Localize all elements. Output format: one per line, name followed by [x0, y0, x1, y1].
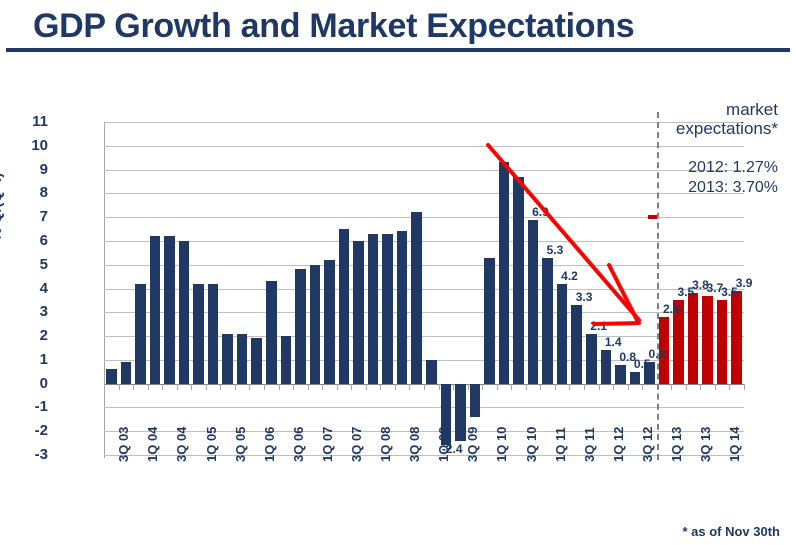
- bar-4Q-08: [411, 212, 421, 383]
- data-label-1Q-13: 2.8: [663, 303, 680, 315]
- x-tick-label-1Q-07: 1Q 07: [321, 427, 334, 462]
- bar-3Q-04: [164, 236, 174, 383]
- x-tick-mark: [715, 384, 716, 390]
- bar-1Q-11: [542, 258, 552, 384]
- bar-2Q-06: [266, 281, 276, 383]
- y-tick-label-3: 3: [8, 304, 48, 319]
- y-tick-label-10: 10: [8, 138, 48, 153]
- x-tick-mark: [584, 384, 585, 390]
- bar-2Q-08: [382, 234, 392, 384]
- legend-value-2013: 2013: 3.70%: [618, 178, 778, 198]
- bar-3Q-12: [630, 372, 640, 384]
- bar-4Q-11: [586, 334, 596, 384]
- x-tick-mark: [468, 384, 469, 390]
- y-tick-label-11: 11: [8, 114, 48, 129]
- x-tick-mark: [729, 384, 730, 390]
- x-tick-label-1Q-06: 1Q 06: [263, 427, 276, 462]
- y-tick-label-8: 8: [8, 185, 48, 200]
- bar-4Q-09: [470, 384, 480, 417]
- bar-4Q-13: [702, 296, 712, 384]
- x-tick-mark: [569, 384, 570, 390]
- bar-2Q-04: [150, 236, 160, 383]
- x-tick-mark: [235, 384, 236, 390]
- x-tick-label-1Q-04: 1Q 04: [146, 427, 159, 462]
- bar-3Q-08: [397, 231, 407, 383]
- bar-4Q-03: [121, 362, 131, 383]
- data-label-4Q-10: 6.9: [532, 206, 549, 218]
- x-tick-mark: [555, 384, 556, 390]
- x-tick-mark: [279, 384, 280, 390]
- bar-1Q-07: [310, 265, 320, 384]
- bar-forecast-extra: [731, 291, 741, 384]
- x-tick-label-1Q-12: 1Q 12: [612, 427, 625, 462]
- bar-4Q-04: [179, 241, 189, 384]
- bar-1Q-04: [135, 284, 145, 384]
- x-tick-mark: [351, 384, 352, 390]
- x-tick-mark: [395, 384, 396, 390]
- x-tick-label-3Q-06: 3Q 06: [292, 427, 305, 462]
- x-tick-mark: [264, 384, 265, 390]
- x-tick-mark: [206, 384, 207, 390]
- x-tick-label-1Q-08: 1Q 08: [379, 427, 392, 462]
- x-tick-mark: [337, 384, 338, 390]
- x-tick-mark: [133, 384, 134, 390]
- y-axis-title: % Q/(Q-4): [0, 173, 5, 241]
- y-tick-label-1: 1: [8, 352, 48, 367]
- y-tick-label-6: 6: [8, 233, 48, 248]
- x-tick-label-3Q-12: 3Q 12: [641, 427, 654, 462]
- x-tick-mark: [599, 384, 600, 390]
- bar-3Q-06: [281, 336, 291, 384]
- x-tick-mark: [424, 384, 425, 390]
- x-tick-label-1Q-14: 1Q 14: [728, 427, 741, 462]
- footnote: * as of Nov 30th: [682, 524, 780, 539]
- bar-1Q-05: [193, 284, 203, 384]
- x-tick-label-1Q-10: 1Q 10: [495, 427, 508, 462]
- bar-2Q-07: [324, 260, 334, 384]
- x-tick-mark: [249, 384, 250, 390]
- bar-1Q-12: [601, 350, 611, 383]
- data-label-2Q-14: 3.9: [736, 277, 753, 289]
- gridline-6: [104, 241, 744, 242]
- bar-2Q-11: [557, 284, 567, 384]
- y-tick-label-2: 2: [8, 328, 48, 343]
- legend: market expectations* 2012: 1.27% 2013: 3…: [618, 100, 778, 197]
- legend-forecast-swatch: [648, 215, 657, 219]
- y-tick-label--1: -1: [8, 399, 48, 414]
- x-tick-mark: [744, 384, 745, 390]
- x-tick-mark: [220, 384, 221, 390]
- x-tick-label-3Q-08: 3Q 08: [408, 427, 421, 462]
- x-tick-label-1Q-09: 1Q 09: [437, 427, 450, 462]
- x-tick-label-1Q-05: 1Q 05: [205, 427, 218, 462]
- x-tick-mark: [540, 384, 541, 390]
- x-tick-mark: [380, 384, 381, 390]
- bar-2Q-12: [615, 365, 625, 384]
- bar-1Q-09: [426, 360, 436, 384]
- y-tick-label-9: 9: [8, 162, 48, 177]
- data-label-2Q-11: 4.2: [561, 270, 578, 282]
- x-tick-mark: [439, 384, 440, 390]
- x-tick-mark: [148, 384, 149, 390]
- bar-4Q-07: [353, 241, 363, 384]
- x-tick-label-3Q-13: 3Q 13: [699, 427, 712, 462]
- bar-3Q-03: [106, 369, 116, 383]
- title-bar: GDP Growth and Market Expectations: [0, 0, 796, 56]
- bar-2Q-10: [499, 162, 509, 383]
- bar-3Q-07: [339, 229, 349, 384]
- y-tick-label-0: 0: [8, 376, 48, 391]
- x-tick-mark: [526, 384, 527, 390]
- legend-heading-line1: market: [618, 100, 778, 119]
- x-tick-label-3Q-04: 3Q 04: [175, 427, 188, 462]
- data-label-3Q-11: 3.3: [576, 291, 593, 303]
- bar-2Q-05: [208, 284, 218, 384]
- x-tick-mark: [642, 384, 643, 390]
- chart-area: % Q/(Q-4) 6.95.34.23.32.11.40.80.50.92.8…: [0, 56, 796, 545]
- y-tick-label--3: -3: [8, 447, 48, 462]
- gridline-5: [104, 265, 744, 266]
- bar-1Q-08: [368, 234, 378, 384]
- x-tick-mark: [628, 384, 629, 390]
- x-tick-mark: [191, 384, 192, 390]
- data-label-1Q-11: 5.3: [547, 244, 564, 256]
- x-tick-mark: [686, 384, 687, 390]
- x-tick-mark: [409, 384, 410, 390]
- bar-4Q-06: [295, 269, 305, 383]
- x-tick-mark: [700, 384, 701, 390]
- x-tick-label-3Q-05: 3Q 05: [234, 427, 247, 462]
- y-tick-label-4: 4: [8, 281, 48, 296]
- x-tick-label-3Q-07: 3Q 07: [350, 427, 363, 462]
- x-tick-mark: [671, 384, 672, 390]
- bar-3Q-11: [571, 305, 581, 383]
- bar-4Q-05: [237, 334, 247, 384]
- y-tick-label-7: 7: [8, 209, 48, 224]
- x-tick-mark: [293, 384, 294, 390]
- x-tick-label-3Q-10: 3Q 10: [525, 427, 538, 462]
- bar-3Q-13: [688, 293, 698, 383]
- data-label-1Q-12: 1.4: [605, 336, 622, 348]
- legend-value-2012: 2012: 1.27%: [618, 158, 778, 178]
- x-tick-mark: [177, 384, 178, 390]
- x-tick-mark: [308, 384, 309, 390]
- x-tick-label-1Q-13: 1Q 13: [670, 427, 683, 462]
- bar-3Q-10: [513, 177, 523, 384]
- x-tick-label-3Q-03: 3Q 03: [117, 427, 130, 462]
- data-label-4Q-11: 2.1: [590, 320, 607, 332]
- gridline--1: [104, 407, 744, 408]
- x-tick-mark: [482, 384, 483, 390]
- bar-1Q-14: [717, 300, 727, 383]
- bar-1Q-10: [484, 258, 494, 384]
- y-tick-label-5: 5: [8, 257, 48, 272]
- bar-3Q-05: [222, 334, 232, 384]
- title-underline-rule: [6, 48, 790, 52]
- x-tick-mark: [366, 384, 367, 390]
- y-tick-label--2: -2: [8, 423, 48, 438]
- x-tick-label-3Q-09: 3Q 09: [466, 427, 479, 462]
- x-tick-mark: [613, 384, 614, 390]
- x-tick-mark: [511, 384, 512, 390]
- page-title: GDP Growth and Market Expectations: [33, 7, 634, 46]
- x-tick-label-1Q-11: 1Q 11: [554, 427, 567, 462]
- x-tick-mark: [119, 384, 120, 390]
- legend-heading-line2: expectations*: [618, 119, 778, 138]
- x-tick-mark: [162, 384, 163, 390]
- x-tick-mark: [453, 384, 454, 390]
- x-tick-mark: [104, 384, 105, 390]
- x-tick-mark: [497, 384, 498, 390]
- bar-4Q-10: [528, 220, 538, 384]
- bar-1Q-06: [251, 338, 261, 383]
- x-tick-mark: [322, 384, 323, 390]
- x-tick-label-3Q-11: 3Q 11: [583, 427, 596, 462]
